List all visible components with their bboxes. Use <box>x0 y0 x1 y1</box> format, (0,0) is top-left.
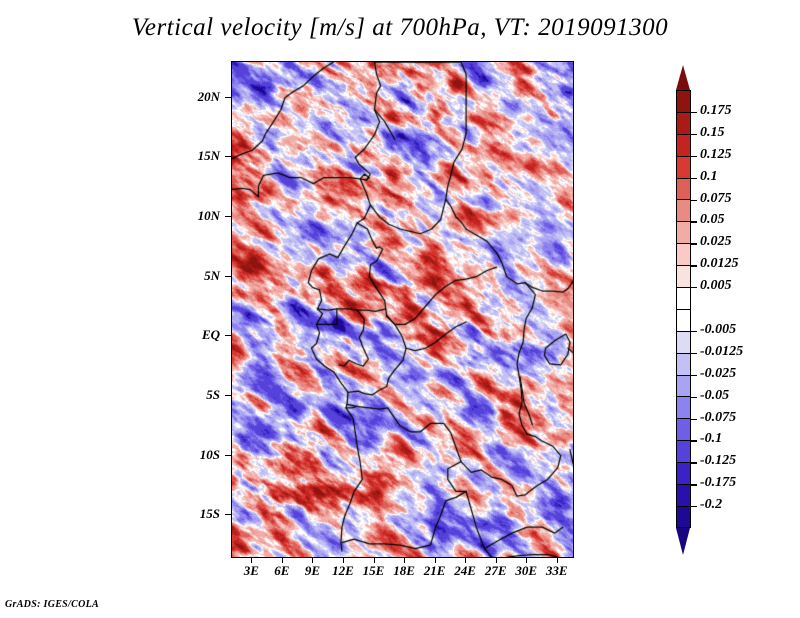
colorbar-tick-label: 0.005 <box>700 278 732 294</box>
colorbar-band <box>676 506 691 528</box>
chart-canvas: Vertical velocity [m/s] at 700hPa, VT: 2… <box>0 0 800 618</box>
colorbar-bands <box>676 90 691 528</box>
y-axis-tick <box>225 276 231 277</box>
colorbar-tick <box>691 506 697 507</box>
colorbar-band <box>676 178 691 200</box>
colorbar-band <box>676 396 691 418</box>
colorbar-band <box>676 462 691 484</box>
colorbar-band <box>676 440 691 462</box>
colorbar-tick-label: 0.15 <box>700 125 725 141</box>
colorbar-band <box>676 90 691 112</box>
colorbar-tick <box>691 484 697 485</box>
colorbar-tick-label: 0.0125 <box>700 256 739 272</box>
page-title: Vertical velocity [m/s] at 700hPa, VT: 2… <box>0 14 800 42</box>
y-axis-tick <box>225 514 231 515</box>
y-axis-tick-label: 10S <box>168 447 220 463</box>
colorbar-band <box>676 353 691 375</box>
colorbar-tick <box>691 265 697 266</box>
colorbar-tick <box>691 287 697 288</box>
colorbar-tick <box>691 375 697 376</box>
colorbar-tick-label: -0.175 <box>700 475 736 491</box>
y-axis-tick-label: 20N <box>168 89 220 105</box>
colorbar-band <box>676 484 691 506</box>
colorbar-band <box>676 309 691 331</box>
colorbar-tick-label: 0.05 <box>700 212 725 228</box>
colorbar-tick <box>691 353 697 354</box>
y-axis-tick <box>225 335 231 336</box>
y-axis-tick-label: 5S <box>168 387 220 403</box>
colorbar-tick <box>691 397 697 398</box>
colorbar-tick <box>691 221 697 222</box>
colorbar-band <box>676 134 691 156</box>
colorbar-tick <box>691 134 697 135</box>
colorbar-tick-label: 0.175 <box>700 103 732 119</box>
y-axis-tick-label: 15N <box>168 148 220 164</box>
colorbar-tick <box>691 331 697 332</box>
x-axis-tick-label: 33E <box>535 563 579 579</box>
y-axis-tick <box>225 97 231 98</box>
colorbar-band <box>676 243 691 265</box>
colorbar-band <box>676 418 691 440</box>
colorbar-tick-label: -0.2 <box>700 497 722 513</box>
y-axis-tick <box>225 156 231 157</box>
colorbar-tick-label: 0.025 <box>700 234 732 250</box>
colorbar-top-arrow <box>676 65 690 90</box>
y-axis-tick <box>225 216 231 217</box>
y-axis-tick <box>225 395 231 396</box>
y-axis-tick-label: 5N <box>168 268 220 284</box>
colorbar-band <box>676 221 691 243</box>
colorbar-tick <box>691 419 697 420</box>
y-axis-tick-label: 10N <box>168 208 220 224</box>
credit-text: GrADS: IGES/COLA <box>5 599 99 610</box>
colorbar-tick-label: 0.1 <box>700 169 718 185</box>
country-borders-overlay <box>232 62 573 557</box>
colorbar-tick-label: -0.125 <box>700 453 736 469</box>
colorbar-band <box>676 265 691 287</box>
colorbar-bottom-arrow <box>676 528 690 555</box>
colorbar-tick-label: 0.075 <box>700 191 732 207</box>
colorbar-tick-label: -0.025 <box>700 366 736 382</box>
colorbar-tick <box>691 440 697 441</box>
y-axis-tick <box>225 455 231 456</box>
colorbar-band <box>676 112 691 134</box>
colorbar-tick <box>691 462 697 463</box>
colorbar-tick-label: -0.0125 <box>700 344 743 360</box>
colorbar-band <box>676 375 691 397</box>
colorbar-tick <box>691 243 697 244</box>
colorbar <box>676 65 691 555</box>
colorbar-tick-label: -0.005 <box>700 322 736 338</box>
y-axis-tick-label: 15S <box>168 506 220 522</box>
colorbar-tick <box>691 200 697 201</box>
colorbar-tick-label: -0.075 <box>700 410 736 426</box>
colorbar-band <box>676 156 691 178</box>
colorbar-tick-label: -0.05 <box>700 388 729 404</box>
colorbar-tick <box>691 112 697 113</box>
colorbar-tick-label: -0.1 <box>700 431 722 447</box>
y-axis-tick-label: EQ <box>168 327 220 343</box>
colorbar-band <box>676 331 691 353</box>
colorbar-tick <box>691 178 697 179</box>
map-plot-area <box>231 61 574 558</box>
colorbar-band <box>676 287 691 309</box>
colorbar-tick <box>691 156 697 157</box>
colorbar-tick-label: 0.125 <box>700 147 732 163</box>
colorbar-band <box>676 199 691 221</box>
